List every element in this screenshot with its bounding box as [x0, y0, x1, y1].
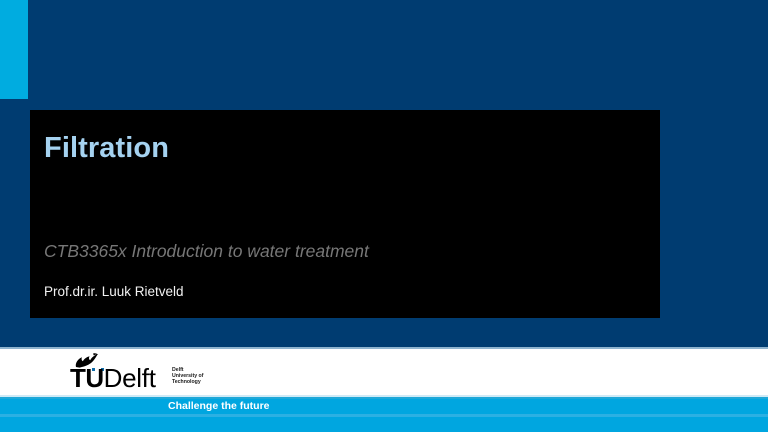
author-name: Prof.dr.ir. Luuk Rietveld: [44, 284, 184, 299]
wordmark-delft: Delft: [104, 363, 156, 393]
university-line-3: Technology: [172, 379, 203, 385]
tu-delft-logo: TUDelft Delft University of Technology: [70, 353, 220, 395]
university-name: Delft University of Technology: [172, 367, 203, 386]
footer-tagline: Challenge the future: [168, 400, 270, 412]
cyan-accent-bar: [0, 0, 28, 99]
footer-highlight-mid: [0, 414, 768, 417]
page-title: Filtration: [44, 132, 169, 165]
presentation-slide: Filtration CTB3365x Introduction to wate…: [0, 0, 768, 432]
course-subtitle: CTB3365x Introduction to water treatment: [44, 241, 369, 262]
tu-delft-wordmark: TUDelft: [70, 365, 156, 391]
slide-content-panel: Filtration CTB3365x Introduction to wate…: [30, 110, 660, 318]
footer-highlight-top: [0, 397, 768, 399]
wordmark-tu: TU: [70, 363, 104, 393]
